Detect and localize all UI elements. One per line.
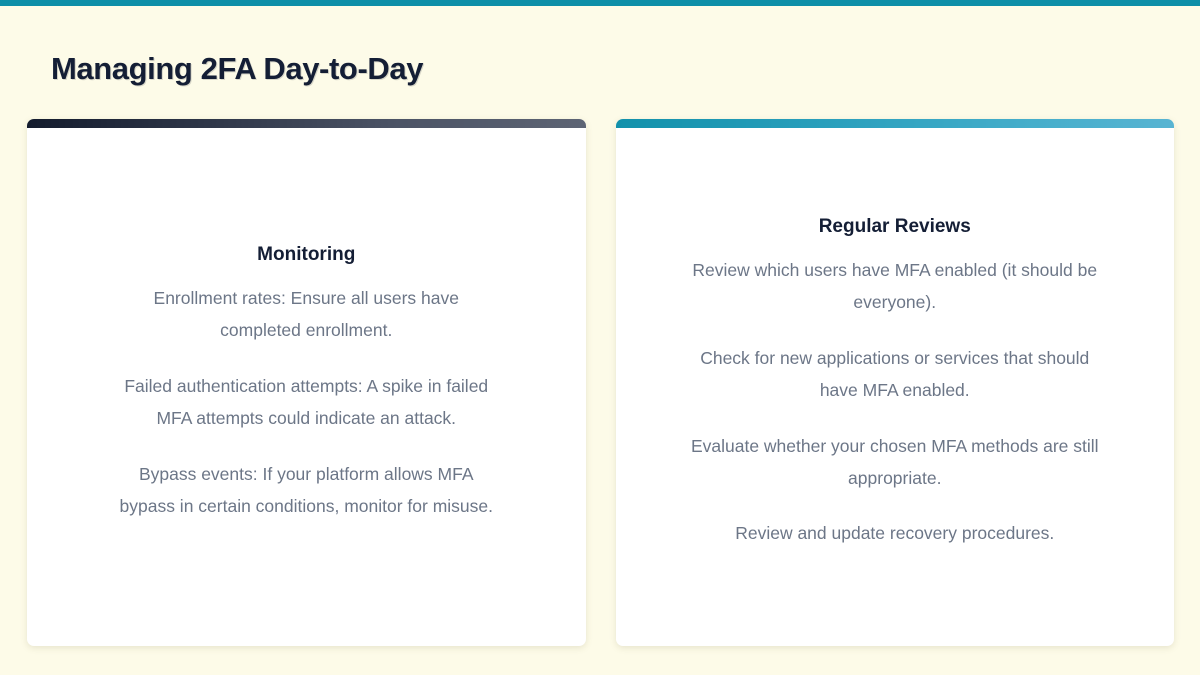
card-paragraph: Check for new applications or services t… — [684, 343, 1105, 407]
top-accent-bar — [0, 0, 1200, 6]
card-paragraph: Bypass events: If your platform allows M… — [113, 459, 499, 523]
card-body-regular-reviews: Regular Reviews Review which users have … — [662, 215, 1127, 551]
card-body-monitoring: Monitoring Enrollment rates: Ensure all … — [91, 243, 521, 523]
card-accent-bar-regular-reviews — [616, 119, 1175, 128]
cards-row: Monitoring Enrollment rates: Ensure all … — [27, 119, 1174, 646]
card-paragraph: Review which users have MFA enabled (it … — [684, 255, 1105, 319]
card-paragraph: Enrollment rates: Ensure all users have … — [113, 283, 499, 347]
card-paragraph: Evaluate whether your chosen MFA methods… — [684, 431, 1105, 495]
card-accent-bar-monitoring — [27, 119, 586, 128]
card-regular-reviews: Regular Reviews Review which users have … — [616, 119, 1175, 646]
card-heading-monitoring: Monitoring — [113, 243, 499, 268]
card-heading-regular-reviews: Regular Reviews — [684, 215, 1105, 240]
page-title: Managing 2FA Day-to-Day — [51, 51, 423, 87]
card-paragraph: Review and update recovery procedures. — [684, 518, 1105, 550]
card-paragraph: Failed authentication attempts: A spike … — [113, 371, 499, 435]
card-monitoring: Monitoring Enrollment rates: Ensure all … — [27, 119, 586, 646]
